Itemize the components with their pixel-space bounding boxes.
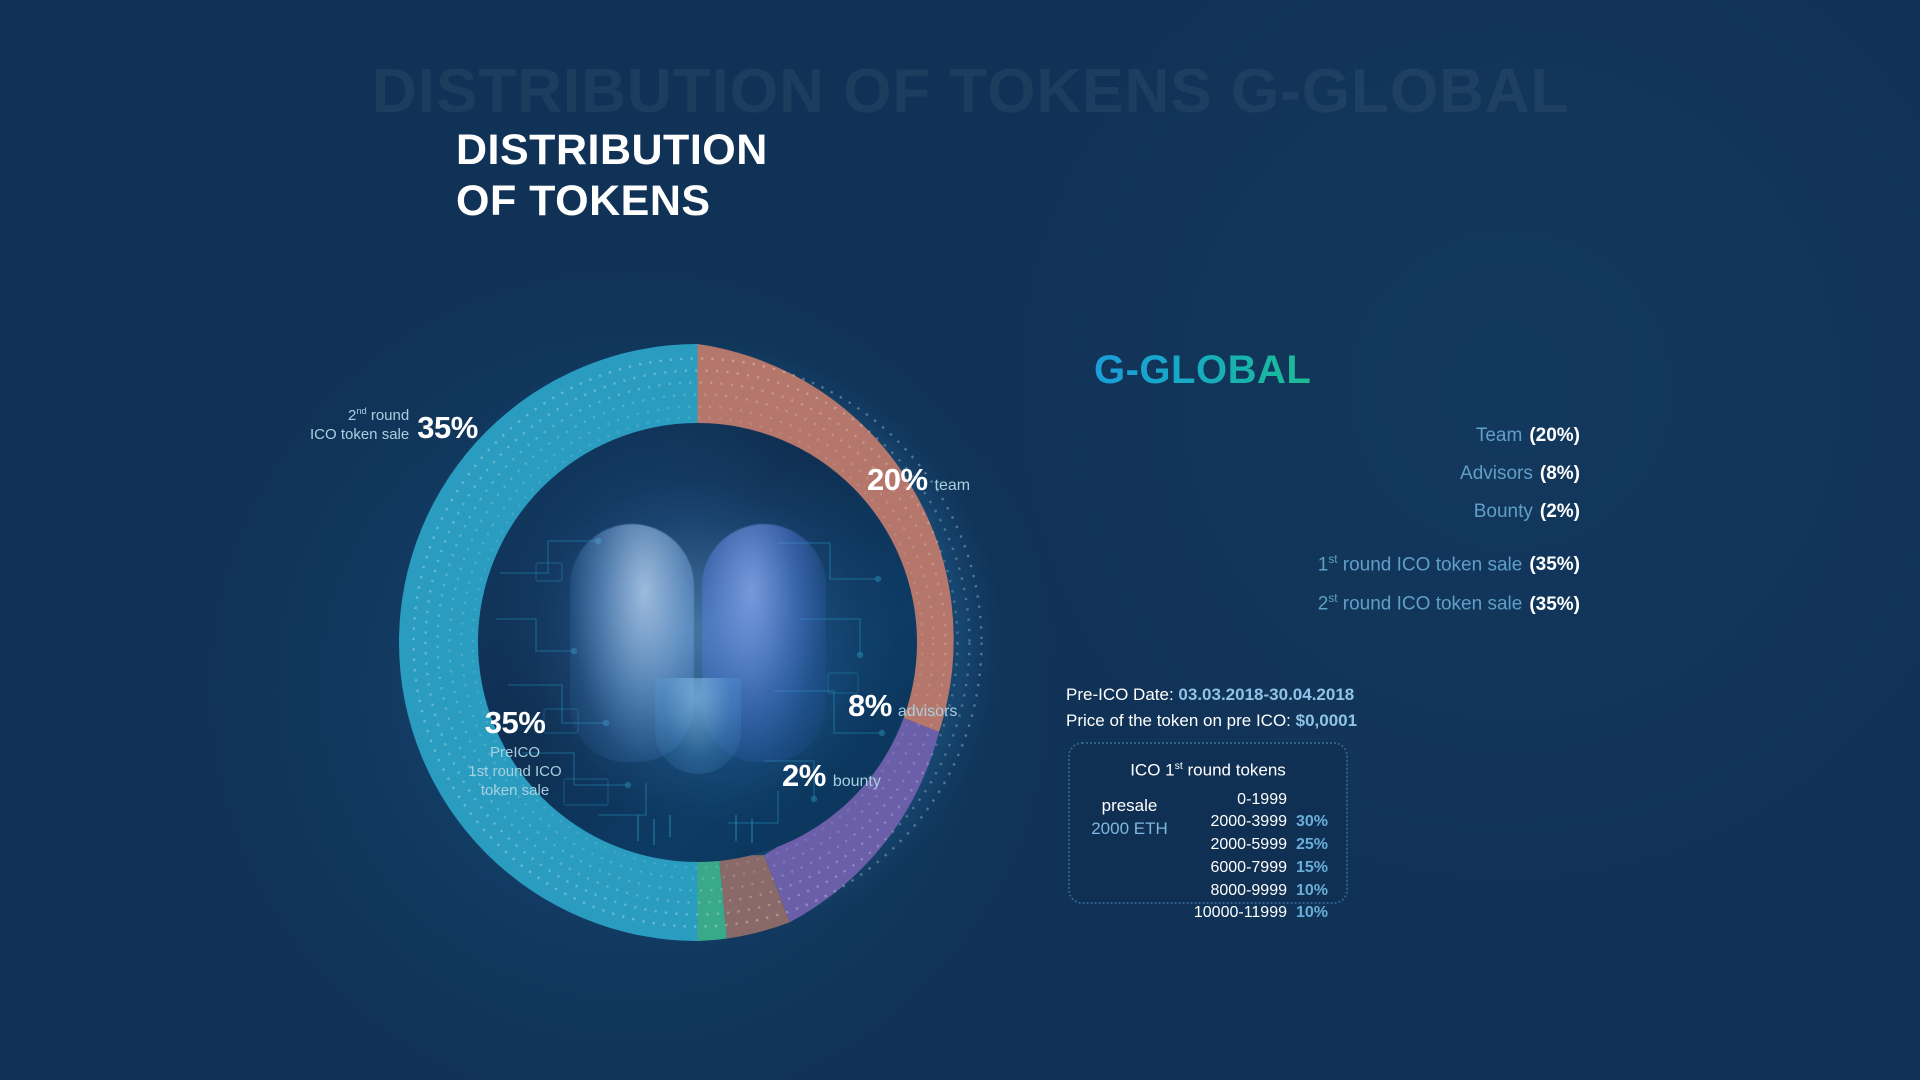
chart-label-second-round-text: 2nd round ICO token sale (310, 406, 409, 446)
table-row: 8000-9999 10% (1179, 880, 1332, 903)
token-range: 10000-11999 (1179, 902, 1287, 925)
table-row: 6000-7999 15% (1179, 857, 1332, 880)
preico-price-value: $0,0001 (1296, 711, 1357, 730)
table-row: 2000-5999 25% (1179, 834, 1332, 857)
brain-graphic (568, 518, 828, 768)
token-table-body: presale 2000 ETH 0-1999 2000-3999 30% 20… (1070, 789, 1346, 925)
token-range: 2000-3999 (1179, 811, 1287, 834)
preico-date-line: Pre-ICO Date: 03.03.2018-30.04.2018 (1066, 682, 1357, 708)
legend-item-advisors[interactable]: Advisors (8%) (1060, 463, 1580, 485)
preico-date-label: Pre-ICO Date: (1066, 685, 1178, 704)
table-row: 0-1999 (1179, 789, 1332, 812)
chart-label-advisors-name: advisors (898, 703, 958, 721)
chart-label-team: 20% team (867, 462, 970, 498)
chart-label-advisors: 8% advisors (848, 688, 957, 724)
legend-value-round-1: (35%) (1529, 554, 1580, 576)
legend-item-team[interactable]: Team (20%) (1060, 425, 1580, 447)
token-discount: 10% (1296, 902, 1332, 925)
token-range: 2000-5999 (1179, 834, 1287, 857)
legend-label-round-2: 2st round ICO token sale (1318, 592, 1523, 615)
legend-item-bounty[interactable]: Bounty (2%) (1060, 501, 1580, 523)
legend-label-team: Team (1476, 425, 1522, 447)
page-title-line1: DISTRIBUTION (456, 125, 768, 176)
chart-label-second-round: 2nd round ICO token sale 35% (310, 406, 478, 446)
chart-label-advisors-pct: 8% (848, 688, 892, 724)
chart-label-preico-text: PreICO 1st round ICO token sale (425, 743, 605, 801)
legend-spacer (1060, 539, 1580, 553)
legend-item-round-2[interactable]: 2st round ICO token sale (35%) (1060, 592, 1580, 615)
token-discount: 15% (1296, 857, 1332, 880)
ico-dates: Pre-ICO Date: 03.03.2018-30.04.2018 Pric… (1066, 682, 1357, 734)
presale-label: presale (1080, 795, 1179, 818)
chart-label-second-round-pct: 35% (417, 410, 478, 446)
page-title: DISTRIBUTION OF TOKENS (456, 125, 768, 226)
legend-label-advisors: Advisors (1460, 463, 1533, 485)
chart-label-preico: 35% PreICO 1st round ICO token sale (425, 705, 605, 801)
chart-label-team-name: team (935, 477, 971, 495)
chart-label-bounty-name: bounty (833, 773, 881, 791)
legend-value-team: (20%) (1529, 425, 1580, 447)
legend: Team (20%) Advisors (8%) Bounty (2%) 1st… (1060, 425, 1580, 632)
chart-label-bounty-pct: 2% (782, 758, 826, 794)
preico-date-value: 03.03.2018-30.04.2018 (1178, 685, 1354, 704)
token-table-title: ICO 1st round tokens (1070, 760, 1346, 781)
ico-first-round-token-table: ICO 1st round tokens presale 2000 ETH 0-… (1068, 742, 1348, 904)
token-discount: 25% (1296, 834, 1332, 857)
token-table-presale: presale 2000 ETH (1080, 789, 1179, 925)
preico-price-label: Price of the token on pre ICO: (1066, 711, 1296, 730)
token-range: 8000-9999 (1179, 880, 1287, 903)
table-row: 10000-11999 10% (1179, 902, 1332, 925)
token-discount: 10% (1296, 880, 1332, 903)
legend-label-round-1: 1st round ICO token sale (1318, 553, 1523, 576)
token-table-rows: 0-1999 2000-3999 30% 2000-5999 25% 6000-… (1179, 789, 1332, 925)
token-distribution-donut-chart: 2nd round ICO token sale 35% 20% team 8%… (385, 330, 1010, 955)
token-range: 0-1999 (1179, 789, 1287, 812)
legend-value-bounty: (2%) (1540, 501, 1580, 523)
page-title-line2: OF TOKENS (456, 176, 768, 227)
preico-price-line: Price of the token on pre ICO: $0,0001 (1066, 708, 1357, 734)
watermark-title: DISTRIBUTION OF TOKENS G-GLOBAL (372, 56, 1570, 127)
legend-value-advisors: (8%) (1540, 463, 1580, 485)
brand-logo: G-GLOBAL (1094, 348, 1311, 393)
legend-value-round-2: (35%) (1529, 594, 1580, 616)
token-discount: 30% (1296, 811, 1332, 834)
chart-label-bounty: 2% bounty (782, 758, 881, 794)
presale-amount: 2000 ETH (1080, 818, 1179, 841)
legend-label-bounty: Bounty (1474, 501, 1533, 523)
legend-item-round-1[interactable]: 1st round ICO token sale (35%) (1060, 553, 1580, 576)
brain-stem (655, 678, 741, 774)
token-range: 6000-7999 (1179, 857, 1287, 880)
table-row: 2000-3999 30% (1179, 811, 1332, 834)
chart-label-preico-pct: 35% (425, 705, 605, 741)
chart-label-team-pct: 20% (867, 462, 928, 498)
